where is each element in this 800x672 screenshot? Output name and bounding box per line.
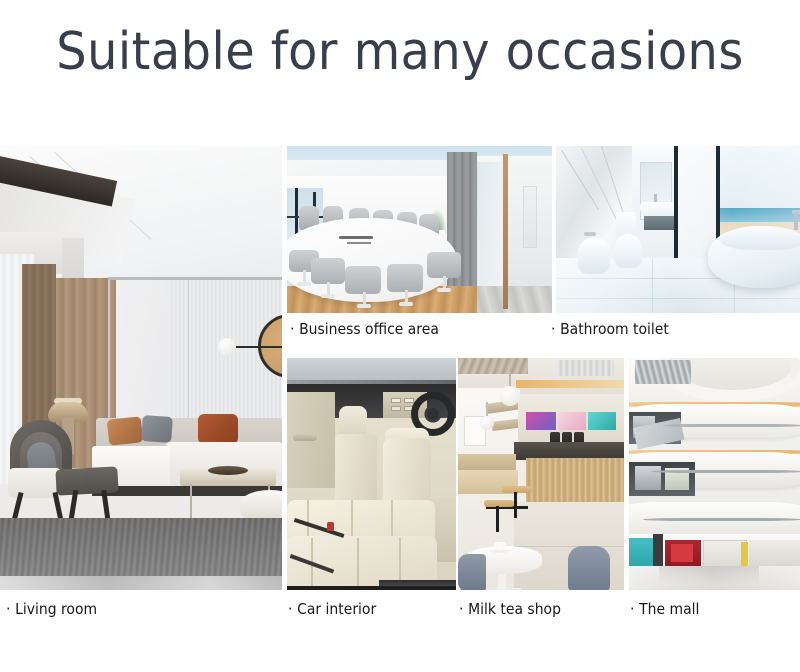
air-conditioner (558, 360, 614, 376)
caption-text: Car interior (297, 600, 376, 618)
cushion-grey (141, 415, 173, 443)
balcony-railing-2 (651, 470, 800, 473)
pendant-light-globe (480, 416, 494, 430)
bullet-icon: · (288, 600, 292, 618)
chair-wheels (399, 302, 413, 306)
digital-menu-board (526, 412, 556, 430)
corridor-door (523, 186, 537, 248)
bar-stool-leg (514, 492, 517, 518)
pendant-light-globe (500, 386, 520, 406)
window-frame-1 (674, 146, 678, 274)
ottoman (55, 466, 118, 495)
bullet-icon: · (459, 600, 463, 618)
caption-car-interior: ·Car interior (288, 600, 376, 618)
ground-floor-gloss (629, 566, 800, 590)
marble-floor-gloss (0, 576, 282, 590)
area-rug-texture (0, 518, 282, 580)
sconce-globe (218, 338, 236, 356)
bar-stool-seat (484, 500, 514, 507)
panel-the-mall[interactable] (629, 358, 800, 590)
passenger-seat-back (383, 438, 431, 506)
coffee-table-decor (208, 466, 248, 475)
yellow-banner (741, 542, 748, 566)
panel-milk-tea-shop[interactable] (458, 358, 624, 590)
cushion-tan (107, 416, 144, 445)
conference-chair (345, 266, 381, 294)
the-mall-photo (629, 358, 800, 590)
caption-milk-tea-shop: ·Milk tea shop (459, 600, 561, 618)
conference-chair (311, 258, 345, 284)
ceiling-slats (458, 358, 528, 374)
glass-partition (477, 162, 503, 292)
ceiling-rail (108, 277, 282, 280)
balcony-railing-3 (663, 424, 800, 427)
bullet-icon: · (551, 320, 555, 338)
air-vent (391, 406, 401, 411)
caption-text: Living room (15, 600, 97, 618)
bullet-icon: · (6, 600, 10, 618)
conference-chair (387, 264, 423, 292)
table-cable-slot (339, 236, 373, 239)
chair-wheels (297, 282, 311, 286)
bathtub-tap (794, 212, 798, 230)
corridor-floor (475, 286, 552, 313)
conference-chair (427, 252, 461, 278)
panel-car-interior[interactable] (287, 358, 456, 590)
caption-bathroom-toilet: ·Bathroom toilet (551, 320, 669, 338)
balcony-railing-1 (643, 518, 800, 521)
bullet-icon: · (290, 320, 294, 338)
digital-menu-board (588, 412, 616, 430)
table-cable-slot-2 (347, 242, 371, 244)
air-vent (391, 398, 401, 403)
door-handle (293, 434, 317, 441)
caption-business-office-area: ·Business office area (290, 320, 439, 338)
bidet (578, 238, 610, 274)
sconce-arm (228, 346, 282, 348)
bathroom-photo (556, 146, 800, 313)
bullet-icon: · (630, 600, 634, 618)
air-vent (404, 398, 414, 403)
leather-seam (357, 538, 359, 590)
chair-wheels (357, 304, 371, 308)
digital-menu-board (558, 412, 586, 430)
business-office-photo (287, 146, 552, 313)
caption-living-room: ·Living room (6, 600, 97, 618)
grey-chair-left (458, 554, 486, 590)
chair-wheels (437, 288, 451, 292)
page-title: Suitable for many occasions (32, 22, 768, 82)
ceiling-light-array (635, 360, 691, 384)
toilet (614, 234, 642, 268)
wood-post (503, 154, 508, 309)
sink-cabinet (644, 216, 674, 230)
chair-wheels (321, 294, 335, 298)
front-seat-back (335, 434, 377, 504)
counter-wood-slats (526, 458, 624, 504)
car-interior-photo (287, 358, 456, 590)
panel-living-room[interactable] (0, 146, 282, 590)
panel-business-office-area[interactable] (287, 146, 552, 313)
caption-text: The mall (639, 600, 699, 618)
bar-stool-seat (502, 486, 532, 493)
panel-bathroom-toilet[interactable] (556, 146, 800, 313)
caption-text: Business office area (299, 320, 439, 338)
grey-chair-right (568, 546, 610, 590)
cushion-rust (198, 414, 238, 444)
storefront-red-banner (671, 544, 693, 562)
seatbelt-buckle (327, 522, 334, 531)
steering-wheel-hub (427, 408, 439, 420)
bar-stool-leg (496, 506, 499, 532)
bathtub-basin (720, 230, 800, 250)
milk-tea-shop-photo (458, 358, 624, 590)
caption-text: Milk tea shop (468, 600, 561, 618)
caption-the-mall: ·The mall (630, 600, 699, 618)
storefront-grey (749, 540, 800, 568)
caption-text: Bathroom toilet (560, 320, 669, 338)
living-room-photo (0, 146, 282, 590)
lower-trim (287, 586, 456, 590)
bidet-tap (584, 232, 596, 236)
cove-light (516, 380, 624, 388)
floor-grout-line (514, 546, 624, 547)
mid-storefront-sign (635, 466, 661, 490)
